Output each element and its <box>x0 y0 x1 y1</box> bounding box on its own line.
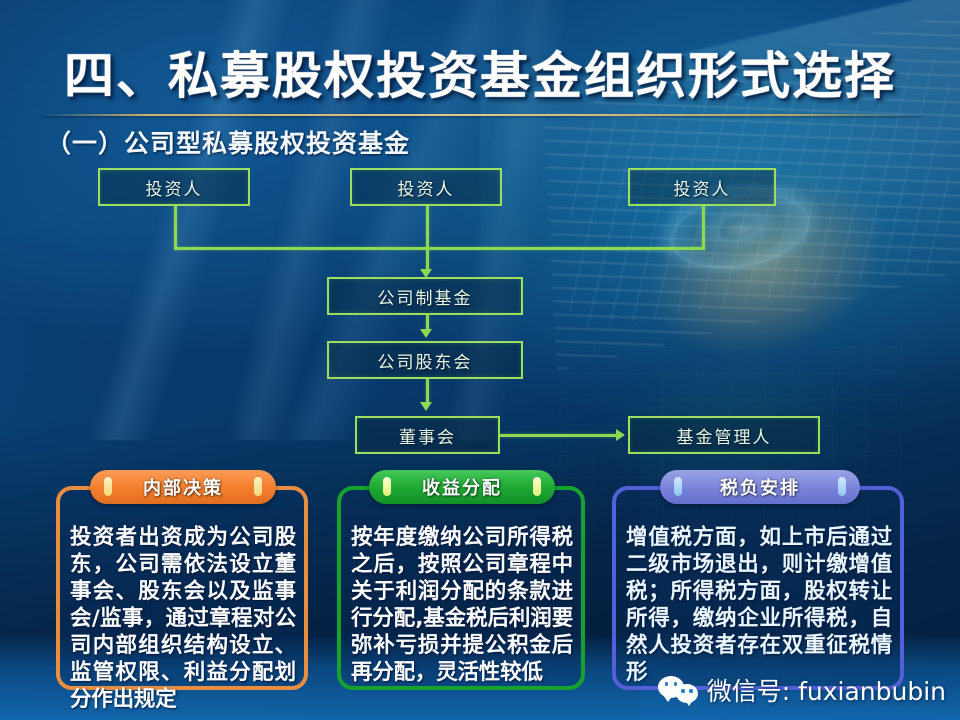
panel-body-profit-distribution: 按年度缴纳公司所得税之后，按照公司章程中关于利润分配的条款进行分配,基金税后利润… <box>351 524 573 686</box>
panel-header-label: 内部决策 <box>143 474 223 500</box>
connector-investor-3-down <box>702 206 705 249</box>
wechat-dot <box>689 689 693 693</box>
capsule-pill-left-icon <box>383 477 391 496</box>
flow-node-fund-manager[interactable]: 基金管理人 <box>628 416 820 454</box>
flow-node-investor-1[interactable]: 投资人 <box>98 168 250 206</box>
capsule-pill-left-icon <box>674 477 682 496</box>
wechat-id-text: 微信号: fuxianbubin <box>707 672 946 708</box>
wechat-bubble-small <box>676 684 698 703</box>
panel-header-label: 税负安排 <box>720 474 800 500</box>
slide-canvas: 四、私募股权投资基金组织形式选择 （一）公司型私募股权投资基金 投资人 投资人 … <box>0 0 960 720</box>
wechat-watermark: 微信号: fuxianbubin <box>658 672 946 708</box>
capsule-pill-left-icon <box>104 477 112 496</box>
connector-investor-1-down <box>174 206 177 249</box>
arrowhead-board-to-manager <box>616 429 625 441</box>
panel-header-tax-arrangement: 税负安排 <box>660 470 860 504</box>
panel-header-profit-distribution: 收益分配 <box>369 470 555 504</box>
wechat-dot <box>681 689 685 693</box>
arrowhead-fund-to-shareholders <box>420 329 432 338</box>
capsule-pill-right-icon <box>838 477 846 496</box>
org-flowchart: 投资人 投资人 投资人 公司制基金 公司股东会 董事会 基金管理人 <box>0 0 960 470</box>
flow-node-investor-3[interactable]: 投资人 <box>628 168 776 206</box>
connector-investor-bus <box>174 247 705 250</box>
panel-internal-decision[interactable]: 内部决策 投资者出资成为公司股东，公司需依法设立董事会、股东会以及监事会/监事，… <box>56 486 308 690</box>
wechat-dot <box>674 682 678 686</box>
panel-body-tax-arrangement: 增值税方面，如上市后通过二级市场退出，则计缴增值税；所得税方面，股权转让所得，缴… <box>626 524 892 686</box>
connector-investor-2-down <box>426 206 429 249</box>
flow-node-corporate-fund[interactable]: 公司制基金 <box>327 277 523 315</box>
flow-node-shareholders-meeting[interactable]: 公司股东会 <box>327 341 523 379</box>
flow-node-investor-2[interactable]: 投资人 <box>350 168 502 206</box>
flow-node-board-of-directors[interactable]: 董事会 <box>355 416 500 454</box>
connector-board-to-manager <box>500 434 620 437</box>
arrowhead-shareholders-to-board <box>420 402 432 411</box>
panel-profit-distribution[interactable]: 收益分配 按年度缴纳公司所得税之后，按照公司章程中关于利润分配的条款进行分配,基… <box>337 486 585 690</box>
capsule-pill-right-icon <box>533 477 541 496</box>
wechat-dot <box>665 682 669 686</box>
panel-body-internal-decision: 投资者出资成为公司股东，公司需依法设立董事会、股东会以及监事会/监事，通过章程对… <box>70 524 296 714</box>
capsule-pill-right-icon <box>254 477 262 496</box>
panel-tax-arrangement[interactable]: 税负安排 增值税方面，如上市后通过二级市场退出，则计缴增值税；所得税方面，股权转… <box>612 486 904 690</box>
panel-header-label: 收益分配 <box>422 474 502 500</box>
panel-header-internal-decision: 内部决策 <box>90 470 276 504</box>
wechat-icon <box>658 675 698 705</box>
